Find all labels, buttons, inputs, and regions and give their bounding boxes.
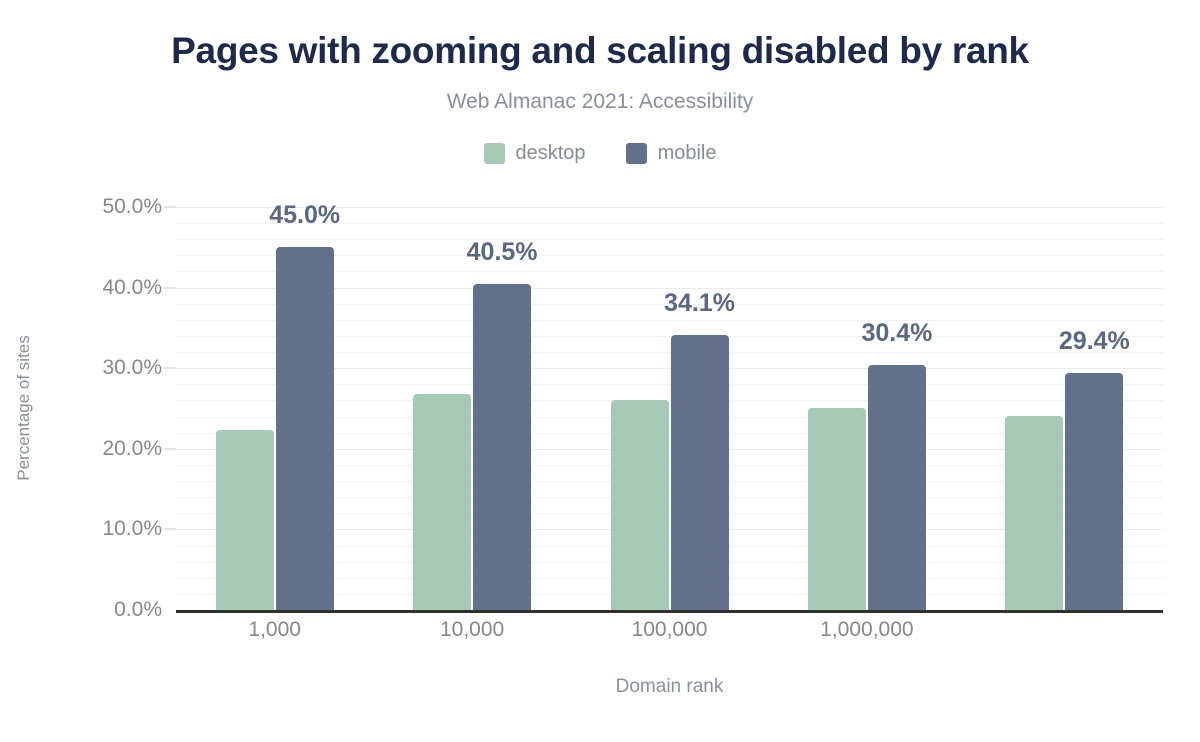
x-tick-label: 1,000,000 — [820, 618, 913, 642]
y-tick-label: 10.0% — [102, 517, 162, 541]
y-tick-label: 50.0% — [102, 195, 162, 219]
x-axis-title: Domain rank — [176, 676, 1163, 698]
bar-value-label: 40.5% — [467, 238, 538, 267]
bar-value-label: 29.4% — [1059, 327, 1130, 356]
bar-desktop-1,000[interactable] — [216, 430, 274, 610]
bar-value-label: 30.4% — [861, 319, 932, 348]
y-axis-title: Percentage of sites — [14, 335, 34, 481]
bar-mobile-5[interactable] — [1065, 373, 1123, 610]
bar-mobile-100,000[interactable] — [671, 335, 729, 610]
y-tick-mark — [164, 448, 176, 449]
y-tick-mark — [164, 287, 176, 288]
bar-desktop-5[interactable] — [1005, 416, 1063, 610]
bar-mobile-1,000,000[interactable] — [868, 365, 926, 610]
x-tick-label: 10,000 — [440, 618, 504, 642]
y-tick-label: 30.0% — [102, 356, 162, 380]
bar-desktop-100,000[interactable] — [611, 400, 669, 610]
bar-mobile-10,000[interactable] — [473, 284, 531, 610]
x-tick-label: 1,000 — [248, 618, 301, 642]
y-tick-mark — [164, 207, 176, 208]
y-tick-mark — [164, 529, 176, 530]
gridline — [176, 239, 1163, 240]
chart-plot: Percentage of sites 0.0%10.0%20.0%30.0%4… — [0, 0, 1200, 742]
y-tick-label: 20.0% — [102, 437, 162, 461]
bar-desktop-10,000[interactable] — [413, 394, 471, 610]
x-axis-line — [176, 610, 1163, 613]
plot-area — [176, 207, 1163, 610]
bar-mobile-1,000[interactable] — [276, 247, 334, 610]
bar-desktop-1,000,000[interactable] — [808, 408, 866, 610]
bar-value-label: 45.0% — [269, 201, 340, 230]
y-tick-mark — [164, 368, 176, 369]
bar-value-label: 34.1% — [664, 289, 735, 318]
x-tick-label: 100,000 — [632, 618, 708, 642]
y-tick-label: 0.0% — [114, 598, 162, 622]
y-tick-label: 40.0% — [102, 276, 162, 300]
